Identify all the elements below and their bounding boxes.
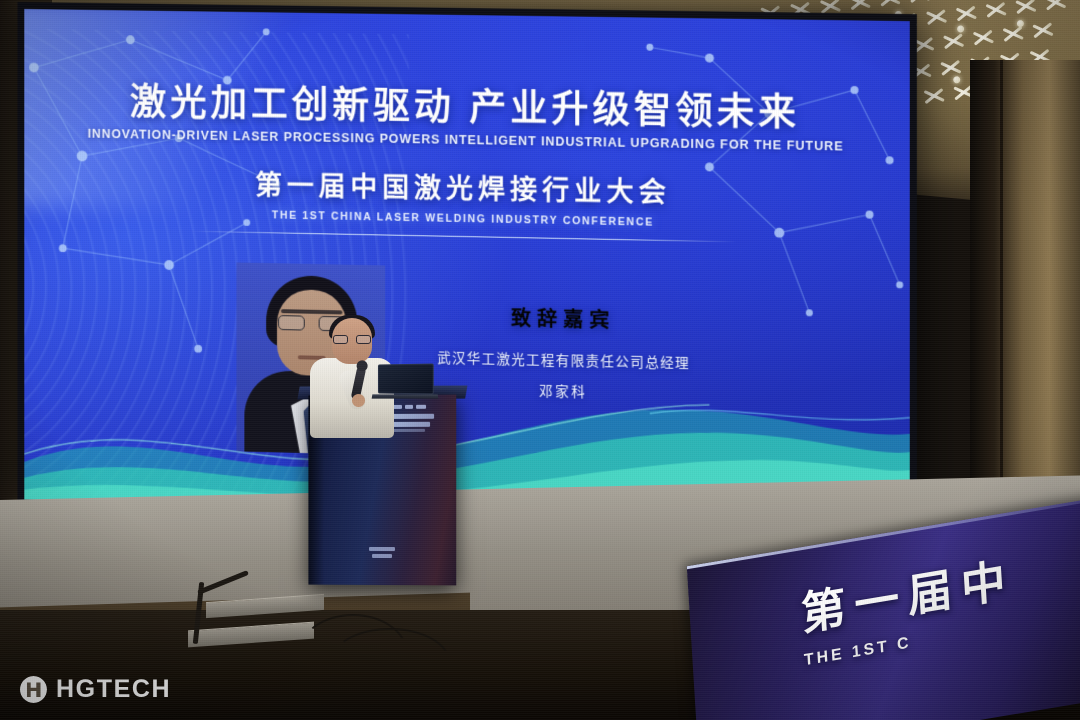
laptop-screen	[378, 364, 434, 395]
laptop-keyboard	[372, 394, 439, 398]
speaker-role-label: 致辞嘉宾	[437, 300, 690, 334]
hgtech-logo-icon	[20, 676, 47, 703]
conference-subtitle-en: THE 1ST CHINA LASER WELDING INDUSTRY CON…	[272, 209, 654, 228]
title-divider	[192, 231, 737, 243]
watermark: HGTECH	[20, 675, 171, 704]
presenter-hand	[352, 394, 365, 407]
led-screen: 激光加工创新驱动 产业升级智领未来 INNOVATION-DRIVEN LASE…	[17, 2, 916, 530]
laptop	[372, 364, 436, 404]
podium-footer-text	[308, 544, 456, 562]
watermark-brand: HGTECH	[56, 675, 171, 704]
conference-subtitle-cn: 第一届中国激光焊接行业大会	[255, 163, 671, 210]
conference-title-cn: 激光加工创新驱动 产业升级智领未来	[130, 84, 800, 132]
conference-photo: 激光加工创新驱动 产业升级智领未来 INNOVATION-DRIVEN LASE…	[0, 0, 1080, 720]
presenter-glasses-icon	[333, 335, 371, 344]
